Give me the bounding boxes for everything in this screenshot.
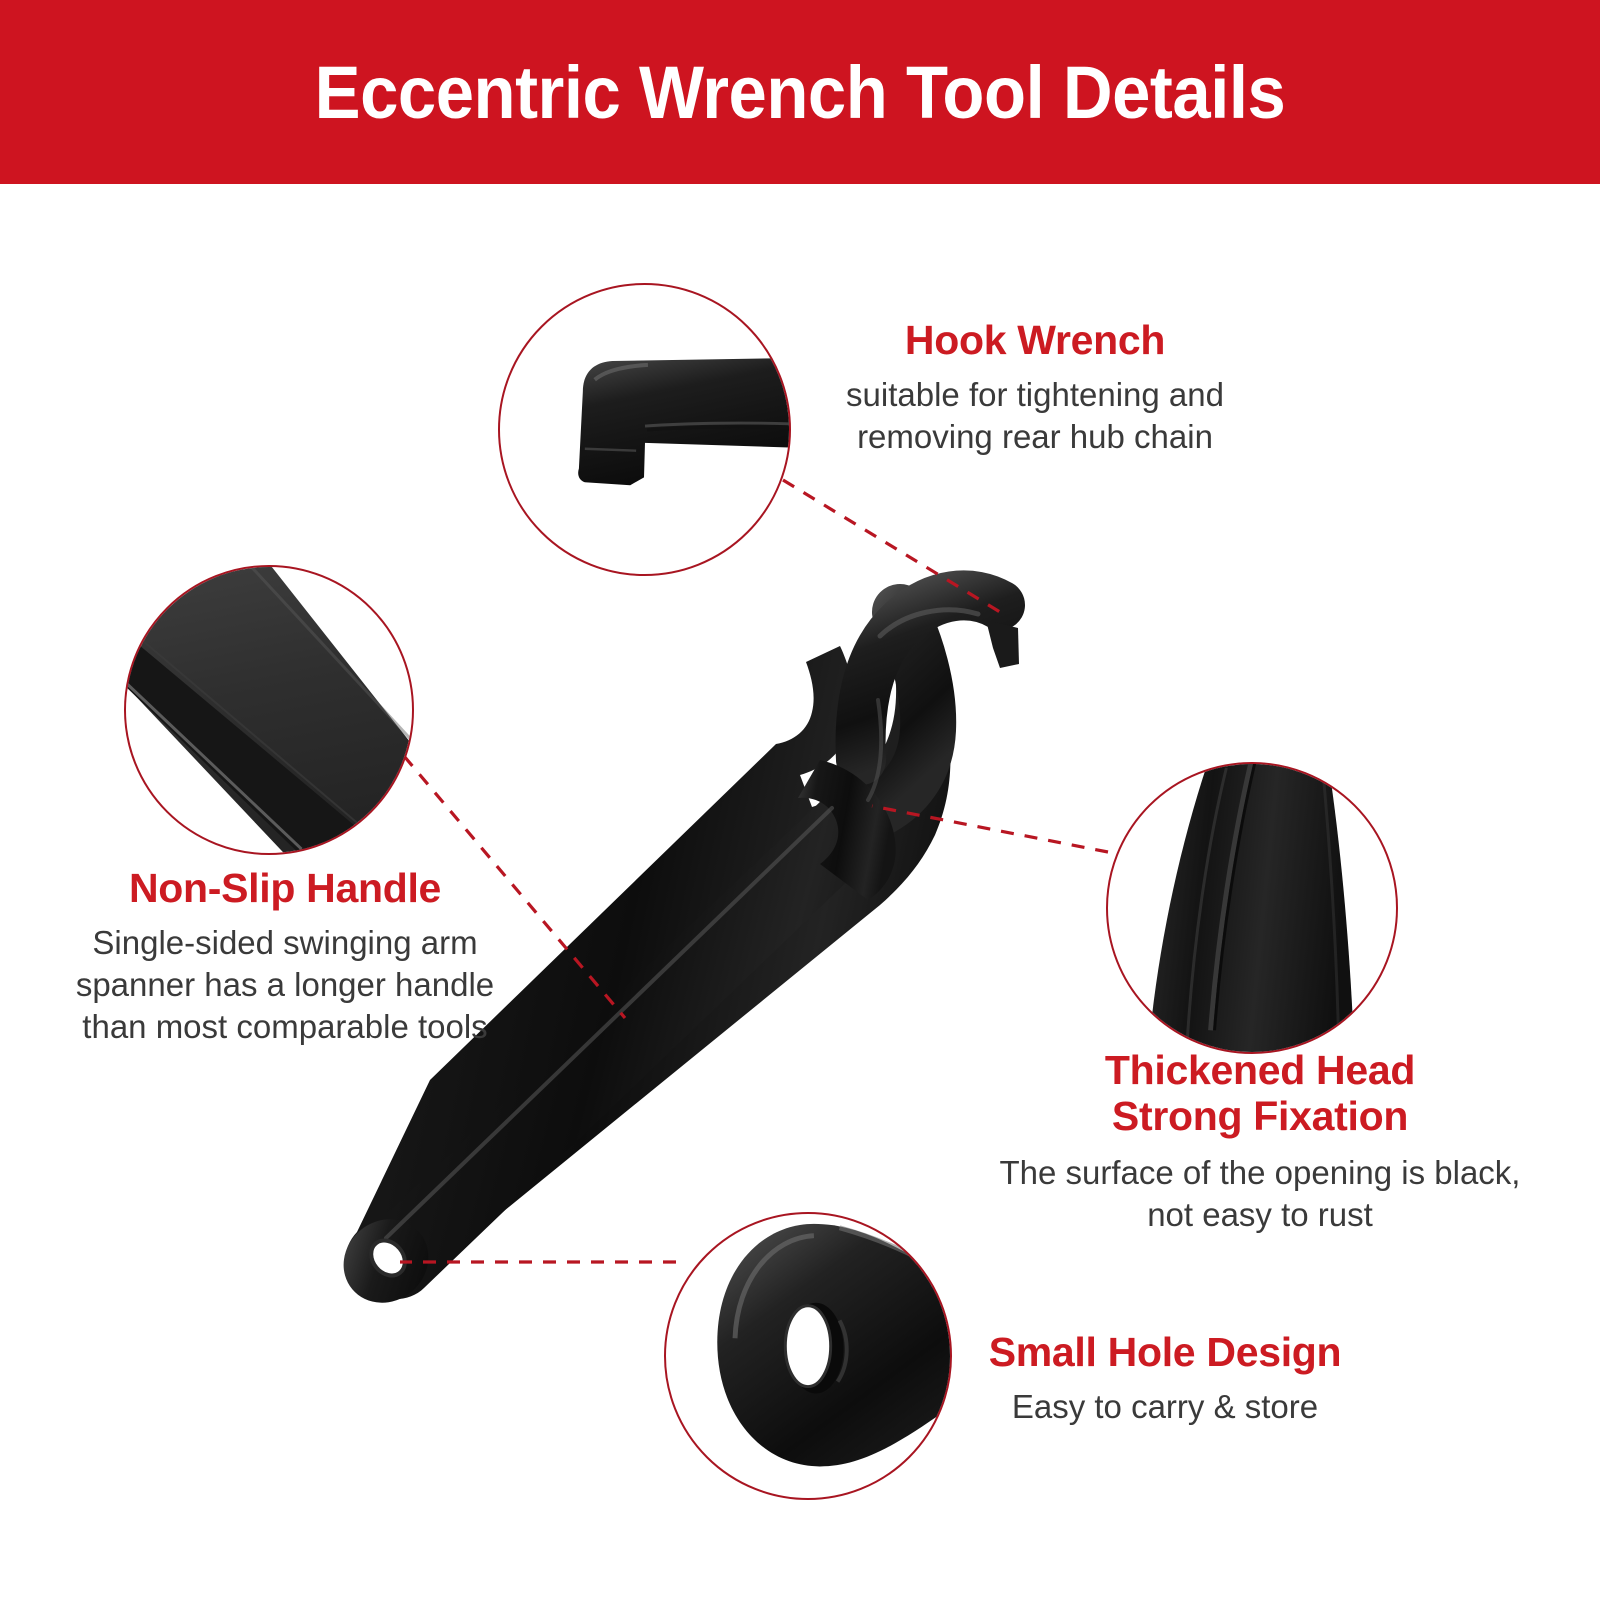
callout-body-line: suitable for tightening and bbox=[800, 374, 1270, 416]
head-thickness-closeup-icon bbox=[1108, 764, 1396, 1052]
callout-body-line: Single-sided swinging arm bbox=[40, 922, 530, 964]
callout-bubble-small-hole bbox=[664, 1212, 952, 1500]
callout-bubble-non-slip-handle bbox=[124, 565, 414, 855]
callout-heading-small-hole: Small Hole Design bbox=[930, 1330, 1400, 1376]
callout-heading-line: Strong Fixation bbox=[960, 1094, 1560, 1140]
callout-body-line: removing rear hub chain bbox=[800, 416, 1270, 458]
callout-text-non-slip-handle: Non-Slip Handle Single-sided swinging ar… bbox=[40, 866, 530, 1049]
callout-text-thickened-head: Thickened Head Strong Fixation The surfa… bbox=[960, 1048, 1560, 1236]
handle-surface-closeup-icon bbox=[126, 567, 412, 853]
infographic-canvas: Eccentric Wrench Tool Details bbox=[0, 0, 1600, 1600]
callout-text-hook-wrench: Hook Wrench suitable for tightening and … bbox=[800, 318, 1270, 458]
hook-tip-closeup-icon bbox=[500, 285, 789, 574]
callout-body-line: The surface of the opening is black, bbox=[960, 1152, 1560, 1194]
callout-bubble-hook-wrench bbox=[498, 283, 791, 576]
callout-body-line: spanner has a longer handle bbox=[40, 964, 530, 1006]
callout-heading-thickened-head: Thickened Head Strong Fixation bbox=[960, 1048, 1560, 1140]
callout-heading-non-slip-handle: Non-Slip Handle bbox=[40, 866, 530, 912]
callout-body-line: not easy to rust bbox=[960, 1194, 1560, 1236]
callout-body-line: than most comparable tools bbox=[40, 1006, 530, 1048]
callout-text-small-hole: Small Hole Design Easy to carry & store bbox=[930, 1330, 1400, 1428]
handle-hole-closeup-icon bbox=[666, 1214, 950, 1498]
callout-bubble-thickened-head bbox=[1106, 762, 1398, 1054]
callout-body-line: Easy to carry & store bbox=[930, 1386, 1400, 1428]
callout-heading-line: Thickened Head bbox=[960, 1048, 1560, 1094]
callout-heading-hook-wrench: Hook Wrench bbox=[800, 318, 1270, 364]
